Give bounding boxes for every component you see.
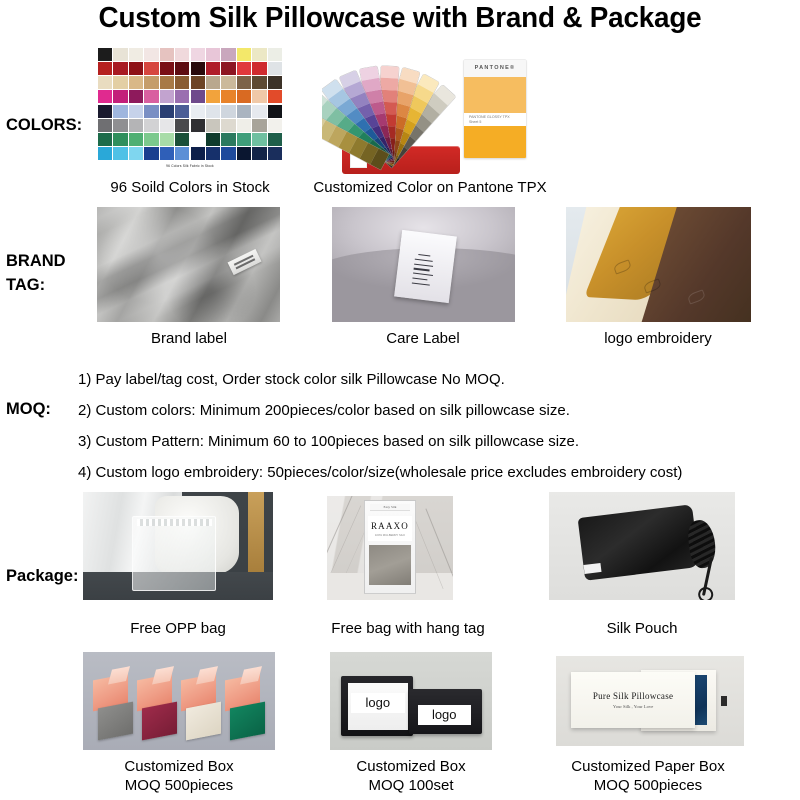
silk-inside-bag	[369, 545, 411, 585]
moq-line-3: 3) Custom Pattern: Minimum 60 to 100piec…	[78, 426, 778, 457]
color-swatch	[191, 62, 205, 75]
color-swatch	[252, 90, 266, 103]
color-swatch	[206, 133, 220, 146]
color-swatch	[221, 90, 235, 103]
color-swatch	[191, 105, 205, 118]
bed-post	[248, 492, 263, 572]
color-swatch	[221, 147, 235, 160]
woven-brand-tab	[227, 249, 261, 275]
color-swatch	[175, 62, 189, 75]
color-swatch	[221, 76, 235, 89]
color-swatch	[268, 62, 282, 75]
color-swatch	[144, 90, 158, 103]
caption-free-opp-bag: Free OPP bag	[82, 620, 274, 639]
color-swatch	[144, 105, 158, 118]
image-pantone-fan-deck-and-chip-card: color guide PANTONE® PANTONE GLOSSY TPX …	[322, 42, 538, 174]
color-swatch	[268, 119, 282, 132]
image-pink-gift-boxes-with-silk-swatches	[83, 652, 275, 750]
box-silk-green	[230, 701, 265, 740]
color-swatch	[268, 105, 282, 118]
pantone-brand-label: PANTONE®	[464, 60, 526, 77]
pantone-card-meta: PANTONE GLOSSY TPX Sheet 5	[464, 113, 526, 126]
logo-placeholder-chip: logo	[418, 705, 471, 725]
color-swatch	[144, 147, 158, 160]
color-swatch	[113, 119, 127, 132]
color-swatch	[206, 62, 220, 75]
color-swatch	[191, 48, 205, 61]
color-swatch	[160, 133, 174, 146]
color-swatch	[237, 48, 251, 61]
color-swatch	[129, 90, 143, 103]
pantone-fan-deck: color guide	[330, 48, 470, 174]
moq-line-1: 1) Pay label/tag cost, Order stock color…	[78, 364, 778, 395]
swatch-grid-note: 96 Colors Silk Fabric in Stock	[96, 164, 284, 168]
color-swatch	[160, 119, 174, 132]
color-swatch	[191, 133, 205, 146]
box-pull-tab	[721, 696, 728, 707]
color-swatch	[113, 133, 127, 146]
color-swatch	[252, 76, 266, 89]
gift-box	[181, 677, 221, 736]
moq-line-2: 2) Custom colors: Minimum 200pieces/colo…	[78, 395, 778, 426]
section-label-moq: MOQ:	[6, 398, 51, 422]
color-swatch	[98, 48, 112, 61]
color-swatch	[252, 133, 266, 146]
color-swatch	[129, 48, 143, 61]
color-swatch	[221, 48, 235, 61]
color-swatch-grid	[98, 48, 282, 160]
color-swatch	[237, 62, 251, 75]
paper-box-title: Pure Silk Pillowcase	[593, 691, 674, 701]
caption-pantone-tpx: Customized Color on Pantone TPX	[300, 179, 560, 198]
color-swatch	[237, 76, 251, 89]
pantone-color-block-top	[464, 77, 526, 113]
color-swatch	[144, 133, 158, 146]
color-swatch	[206, 147, 220, 160]
color-swatch	[98, 62, 112, 75]
color-swatch	[206, 119, 220, 132]
hang-tag-brand: RAAXO	[371, 521, 409, 531]
color-swatch	[252, 48, 266, 61]
image-black-drawstring-silk-pouch	[549, 492, 735, 600]
caption-96-colors: 96 Soild Colors in Stock	[70, 179, 310, 198]
color-swatch	[144, 76, 158, 89]
color-swatch	[191, 90, 205, 103]
color-swatch	[237, 147, 251, 160]
color-swatch	[175, 76, 189, 89]
caption-brand-label: Brand label	[96, 330, 282, 349]
color-swatch	[144, 62, 158, 75]
color-swatch	[191, 76, 205, 89]
color-swatch	[160, 147, 174, 160]
color-swatch	[221, 133, 235, 146]
image-white-paper-drawer-box-with-navy-silk: Pure Silk Pillowcase Your Silk , Your Lo…	[556, 656, 744, 746]
product-spec-sheet: Custom Silk Pillowcase with Brand & Pack…	[0, 0, 800, 800]
color-swatch	[221, 119, 235, 132]
pantone-color-block-bottom	[464, 126, 526, 158]
care-label-tag	[394, 230, 457, 303]
gift-box	[137, 677, 177, 736]
color-swatch	[175, 48, 189, 61]
color-swatch	[268, 76, 282, 89]
moq-list: 1) Pay label/tag cost, Order stock color…	[78, 364, 778, 488]
color-swatch	[268, 147, 282, 160]
image-silk-color-swatch-chart: 96 Colors Silk Fabric in Stock	[96, 46, 284, 170]
color-swatch	[144, 119, 158, 132]
bag-header-text: Easy Silk	[370, 504, 411, 511]
paper-box-tagline: Your Silk , Your Love	[613, 704, 653, 709]
color-swatch	[113, 76, 127, 89]
color-swatch	[129, 147, 143, 160]
color-swatch	[160, 62, 174, 75]
color-swatch	[268, 48, 282, 61]
color-swatch	[237, 119, 251, 132]
color-swatch	[129, 133, 143, 146]
color-swatch	[175, 105, 189, 118]
image-black-gift-boxes-with-logo-placeholder: logo logo	[330, 652, 492, 750]
box-silk-burgundy	[142, 701, 177, 740]
caption-care-label: Care Label	[330, 330, 516, 349]
caption-free-bag-hang-tag: Free bag with hang tag	[310, 620, 506, 639]
moq-line-4: 4) Custom logo embroidery: 50pieces/colo…	[78, 457, 778, 488]
caption-logo-embroidery: logo embroidery	[564, 330, 752, 349]
opp-bag	[132, 516, 216, 592]
color-swatch	[175, 147, 189, 160]
color-swatch	[113, 147, 127, 160]
color-swatch	[129, 62, 143, 75]
color-swatch	[252, 62, 266, 75]
color-swatch	[252, 105, 266, 118]
color-swatch	[160, 76, 174, 89]
section-label-colors: COLORS:	[6, 114, 82, 138]
box-silk-grey	[98, 701, 133, 740]
color-swatch	[252, 147, 266, 160]
section-label-brand-tag: BRAND TAG:	[6, 250, 66, 298]
color-swatch	[191, 119, 205, 132]
color-swatch	[160, 105, 174, 118]
color-swatch	[206, 48, 220, 61]
caption-customized-box-500: Customized Box MOQ 500pieces	[82, 758, 276, 796]
hang-tag-subtext: 100% MULBERRY SILK	[375, 533, 405, 537]
color-swatch	[98, 119, 112, 132]
page-title: Custom Silk Pillowcase with Brand & Pack…	[16, 2, 784, 35]
color-swatch	[98, 76, 112, 89]
color-swatch	[160, 90, 174, 103]
color-swatch	[98, 105, 112, 118]
paper-box-sleeve: Pure Silk Pillowcase Your Silk , Your Lo…	[571, 672, 695, 728]
color-swatch	[252, 119, 266, 132]
section-label-package: Package:	[6, 565, 78, 589]
color-swatch	[206, 90, 220, 103]
color-swatch	[113, 90, 127, 103]
color-swatch	[129, 105, 143, 118]
poly-bag: Easy Silk RAAXO 100% MULBERRY SILK	[364, 500, 417, 594]
image-poly-bag-with-raaxo-hang-tag: Easy Silk RAAXO 100% MULBERRY SILK	[327, 496, 453, 600]
caption-silk-pouch: Silk Pouch	[548, 620, 736, 639]
caption-customized-box-100set: Customized Box MOQ 100set	[320, 758, 502, 796]
box-silk-cream	[186, 701, 221, 740]
hang-tag-card: RAAXO 100% MULBERRY SILK	[368, 516, 412, 542]
image-cream-gold-brown-silk-embroidery	[566, 207, 751, 322]
pantone-chip-card: PANTONE® PANTONE GLOSSY TPX Sheet 5	[464, 60, 526, 158]
image-grey-silk-with-woven-brand-tab	[97, 207, 280, 322]
color-swatch	[98, 90, 112, 103]
image-white-care-label-on-silk	[332, 207, 515, 322]
color-swatch	[175, 119, 189, 132]
color-swatch	[237, 133, 251, 146]
color-swatch	[237, 105, 251, 118]
bag-seal-strip	[137, 519, 212, 526]
color-swatch	[191, 147, 205, 160]
color-swatch	[129, 119, 143, 132]
image-clear-opp-bag-on-bed	[83, 492, 273, 600]
color-swatch	[144, 48, 158, 61]
color-swatch	[129, 76, 143, 89]
color-swatch	[268, 133, 282, 146]
color-swatch	[237, 90, 251, 103]
logo-placeholder-chip: logo	[351, 693, 404, 713]
color-swatch	[206, 76, 220, 89]
color-swatch	[221, 105, 235, 118]
gift-box	[225, 677, 265, 736]
color-swatch	[175, 133, 189, 146]
color-swatch	[175, 90, 189, 103]
color-swatch	[206, 105, 220, 118]
color-swatch	[113, 105, 127, 118]
color-swatch	[268, 90, 282, 103]
color-swatch	[160, 48, 174, 61]
color-swatch	[113, 48, 127, 61]
gift-box	[93, 677, 133, 736]
color-swatch	[221, 62, 235, 75]
color-swatch	[113, 62, 127, 75]
caption-customized-paper-box: Customized Paper Box MOQ 500pieces	[548, 758, 748, 796]
color-swatch	[98, 147, 112, 160]
color-swatch	[98, 133, 112, 146]
